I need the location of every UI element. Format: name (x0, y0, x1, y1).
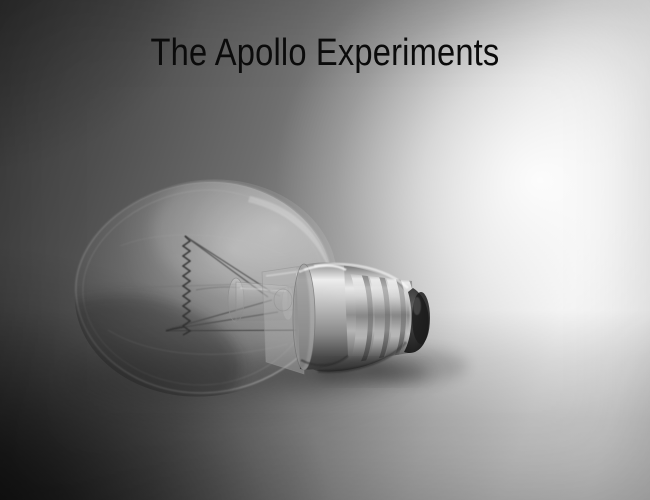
poster-canvas: The Apollo Experiments (0, 0, 650, 500)
base-contact-shadow (316, 362, 428, 382)
page-title: The Apollo Experiments (46, 30, 605, 78)
